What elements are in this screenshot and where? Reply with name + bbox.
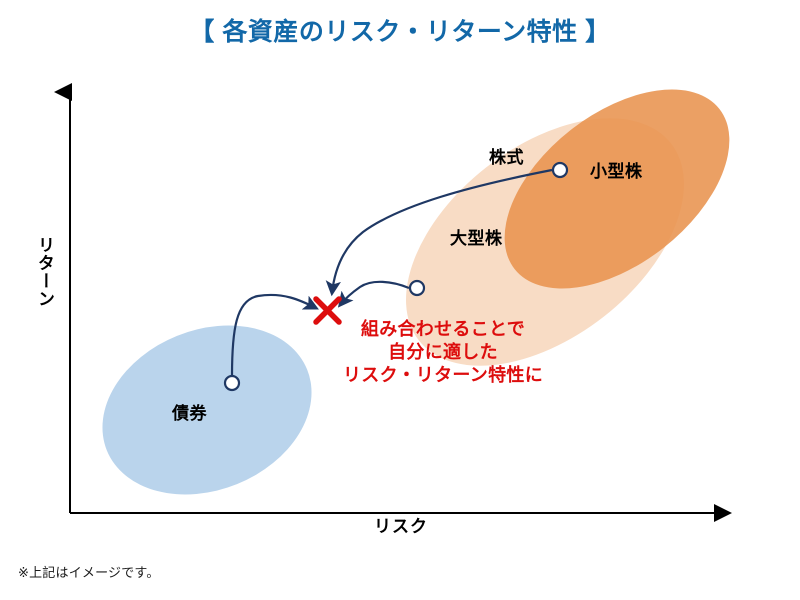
label-small-cap: 小型株 [590,157,643,182]
risk-return-chart: 【 各資産のリスク・リターン特性 】 リターン リスク 株式 小型株 大型株 債… [0,0,800,600]
arrow-large-cap-to-mix [340,282,409,305]
label-stocks: 株式 [489,143,524,168]
x-axis-label: リスク [374,512,428,537]
label-bonds: 債券 [172,399,207,424]
page-title: 【 各資産のリスク・リターン特性 】 [0,12,800,48]
callout-line-1: 組み合わせることで [318,318,568,341]
marker-bonds [225,376,239,390]
label-large-cap: 大型株 [450,224,503,249]
marker-large-cap [410,281,424,295]
combination-callout: 組み合わせることで 自分に適した リスク・リターン特性に [318,318,568,387]
marker-small-cap [553,163,567,177]
callout-line-2: 自分に適した [318,341,568,364]
chart-canvas [0,0,800,600]
callout-line-3: リスク・リターン特性に [318,364,568,387]
y-axis-label: リターン [32,236,57,308]
footnote: ※上記はイメージです。 [18,562,160,581]
